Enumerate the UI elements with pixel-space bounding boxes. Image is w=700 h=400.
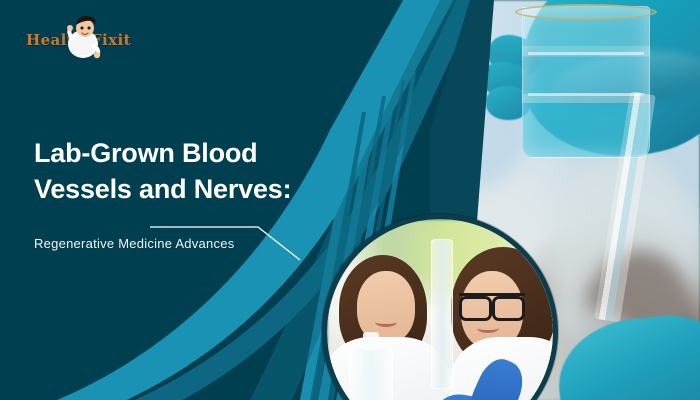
headline-line-2: Vessels and Nerves: bbox=[34, 172, 334, 208]
circular-scientists-photo bbox=[322, 214, 558, 400]
graduated-cylinder-icon bbox=[431, 239, 453, 389]
smile bbox=[375, 317, 397, 327]
smile bbox=[477, 323, 499, 333]
beaker-graduation bbox=[528, 93, 644, 96]
eyeglasses-icon bbox=[459, 293, 525, 313]
beaker-graduation bbox=[528, 52, 644, 55]
headline-line-1: Lab-Grown Blood bbox=[34, 136, 334, 172]
beaker-rim bbox=[515, 4, 657, 20]
page-subtitle: Regenerative Medicine Advances bbox=[34, 236, 234, 251]
brand-logo[interactable]: Health Fixit bbox=[26, 16, 131, 64]
doctor-mascot-icon bbox=[62, 14, 104, 60]
reagent-bottle-icon bbox=[349, 347, 393, 400]
circle-photo-inner bbox=[327, 219, 553, 400]
page-title: Lab-Grown Blood Vessels and Nerves: bbox=[34, 136, 334, 208]
promotional-banner: Health Fixit Lab-Grown Blood Vessels and… bbox=[0, 0, 700, 400]
